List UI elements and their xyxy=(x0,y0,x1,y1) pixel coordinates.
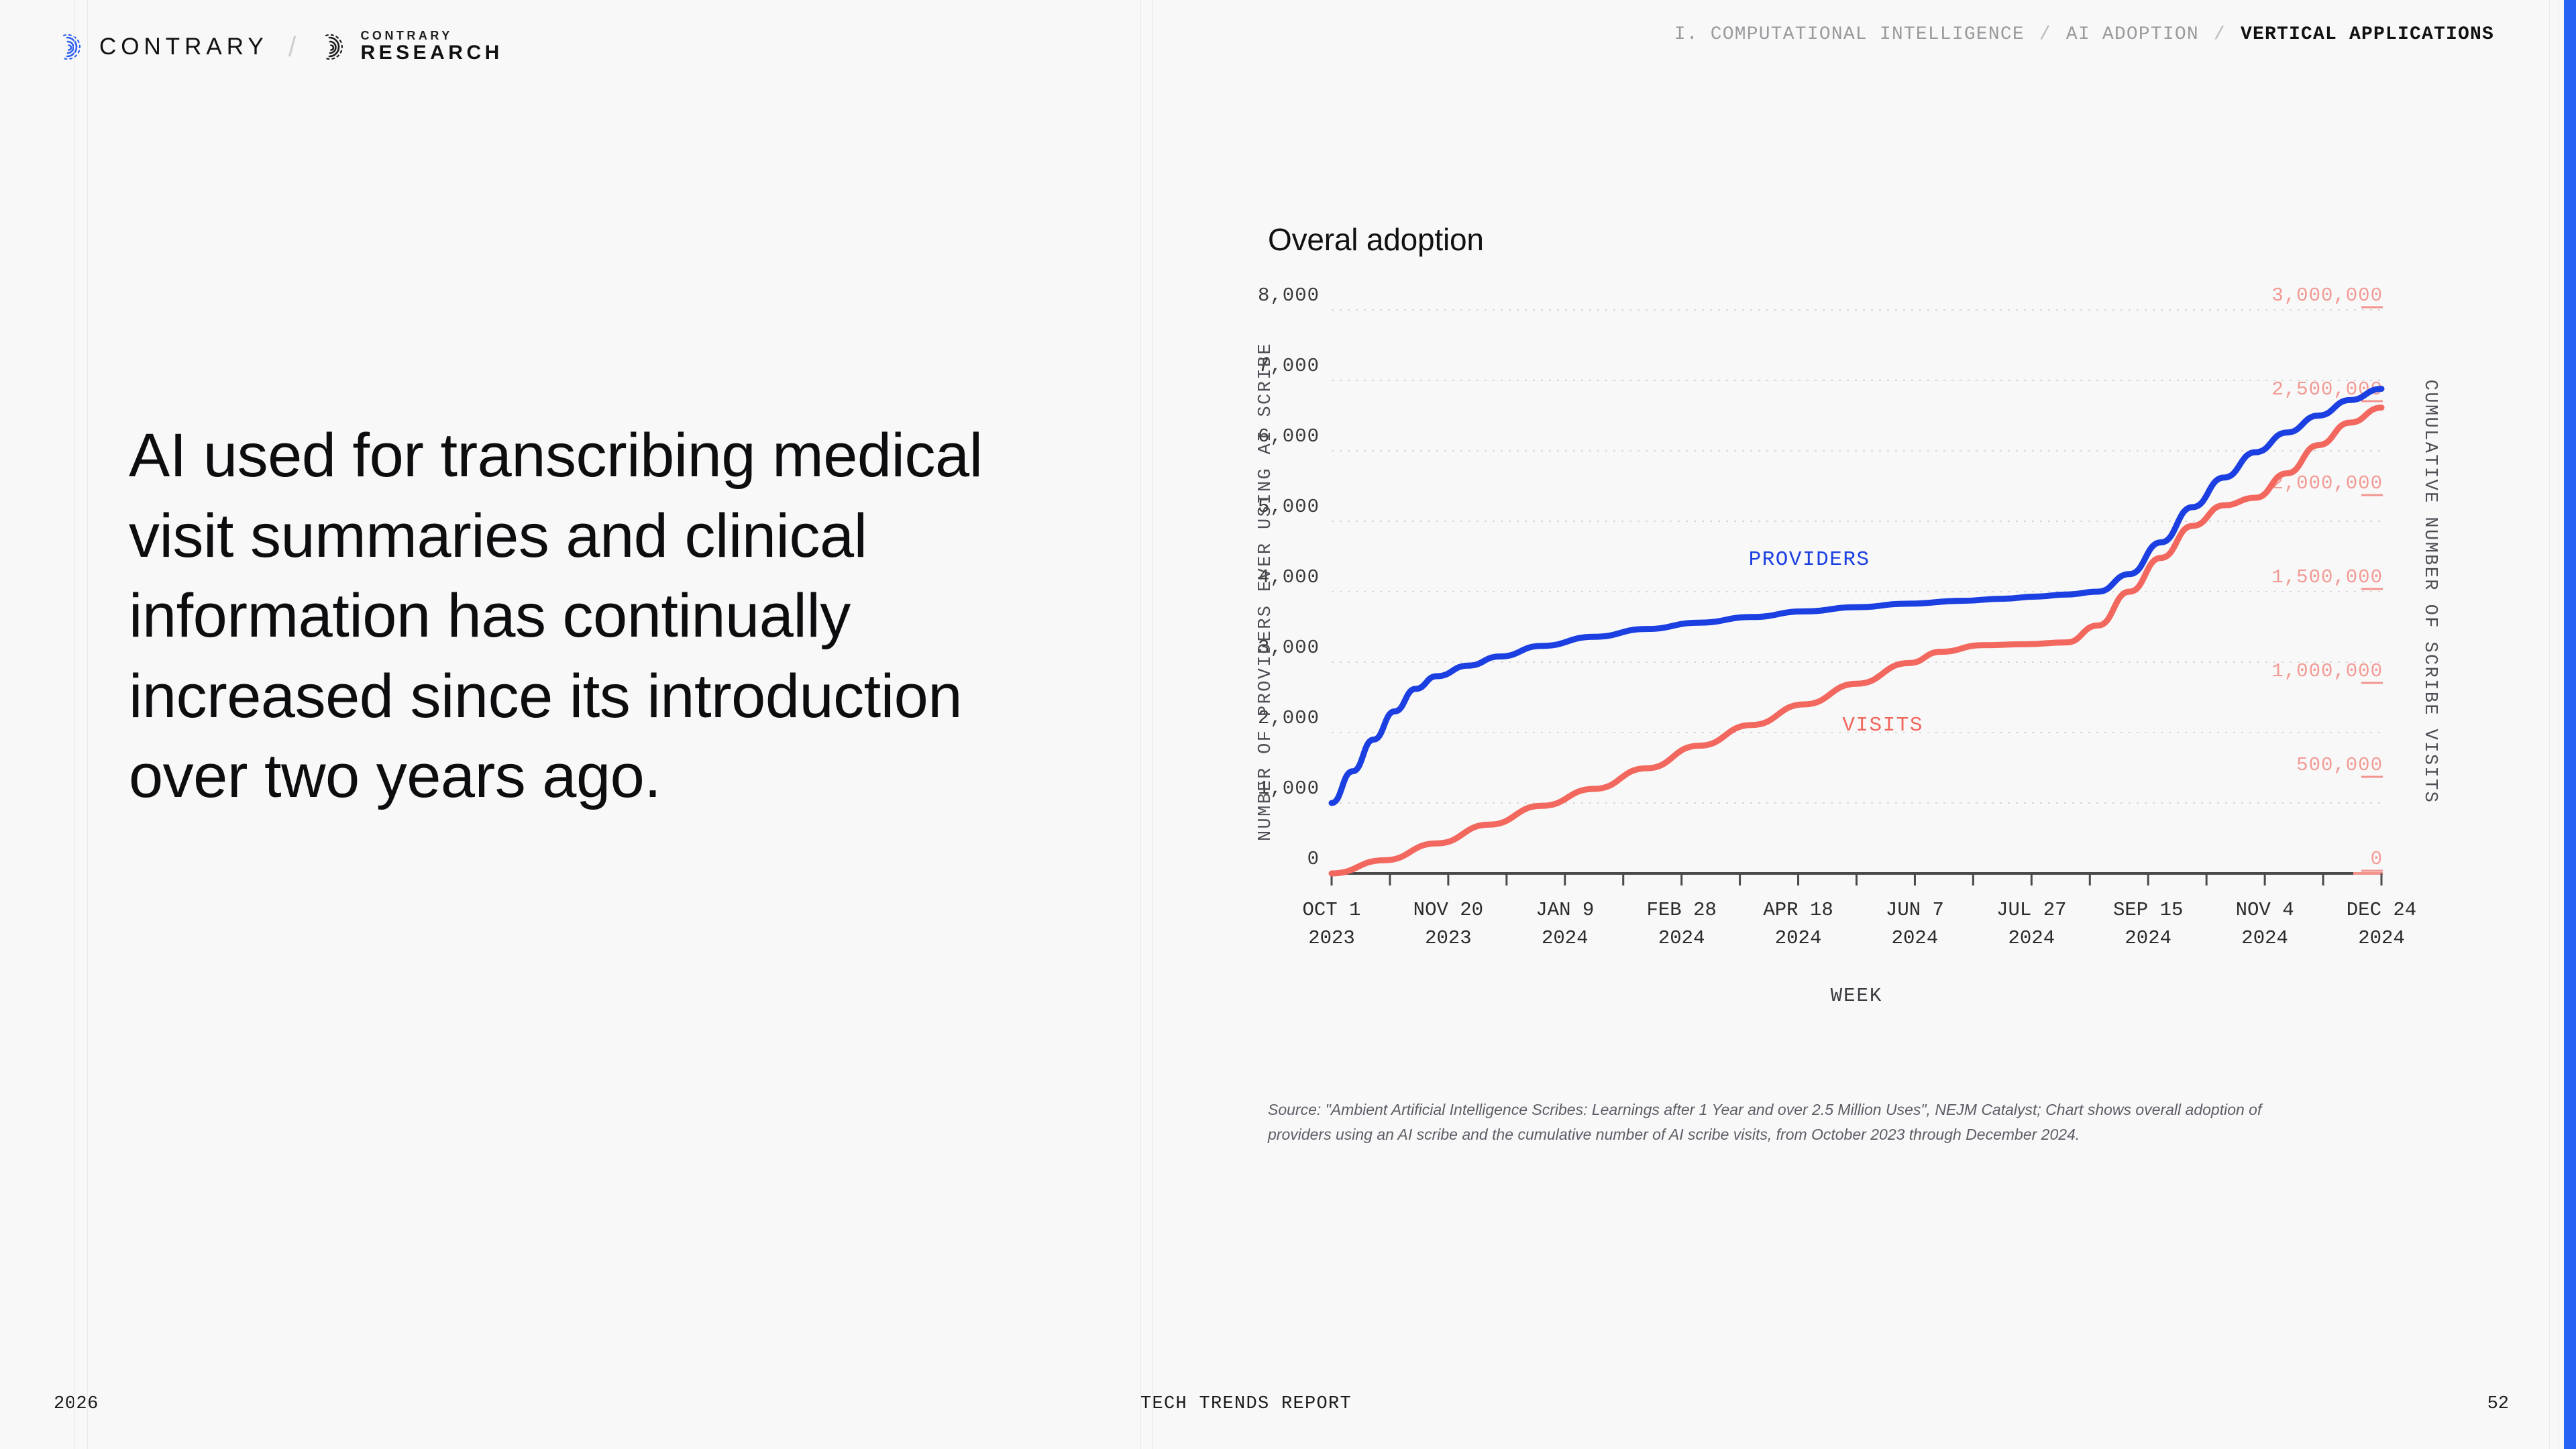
contrary-research-logo[interactable]: CONTRARY RESEARCH xyxy=(316,30,502,64)
y2-axis-tick-label: 3,000,000 xyxy=(2271,284,2383,307)
x-axis-tick-label: NOV 4 xyxy=(2236,899,2294,921)
page-headline: AI used for transcribing medical visit s… xyxy=(129,416,994,817)
x-axis-tick-label: JUN 7 xyxy=(1886,899,1944,921)
footer-year: 2026 xyxy=(54,1394,99,1414)
series-label-visits: VISITS xyxy=(1842,714,1923,737)
page-edge-line xyxy=(2559,0,2559,1449)
y2-axis-tick-label: 500,000 xyxy=(2296,754,2383,776)
chart-title: Overal adoption xyxy=(1268,221,2529,258)
x-axis-tick-label-year: 2024 xyxy=(2241,927,2288,949)
y2-axis-tick-label: 0 xyxy=(2371,848,2383,870)
page-edge-line xyxy=(87,0,88,1449)
page-edge-line xyxy=(2549,0,2550,1449)
x-axis-tick-label: NOV 20 xyxy=(1413,899,1483,921)
breadcrumb-item-current[interactable]: VERTICAL APPLICATIONS xyxy=(2241,24,2494,45)
x-axis-tick-label-year: 2024 xyxy=(1775,927,1822,949)
contrary-research-spiral-icon xyxy=(316,31,348,63)
book-gutter-line xyxy=(1140,0,1141,1449)
x-axis-tick-label-year: 2024 xyxy=(1658,927,1705,949)
chart-source-note: Source: "Ambient Artificial Intelligence… xyxy=(1268,1097,2314,1148)
research-eyebrow: CONTRARY xyxy=(360,30,502,42)
y-axis-tick-label: 8,000 xyxy=(1258,284,1320,307)
series-label-providers: PROVIDERS xyxy=(1749,548,1870,572)
chart-figure: 01,0002,0003,0004,0005,0006,0007,0008,00… xyxy=(1201,270,2529,1075)
x-axis-tick-label-year: 2024 xyxy=(1892,927,1939,949)
breadcrumb: I. COMPUTATIONAL INTELLIGENCE / AI ADOPT… xyxy=(1674,24,2494,45)
brand-lockup[interactable]: CONTRARY / CONTRARY RESEARCH xyxy=(54,30,503,64)
footer-page-number: 52 xyxy=(2487,1394,2509,1414)
vertical-scrollbar[interactable] xyxy=(2564,0,2576,1449)
y2-axis-title: CUMULATIVE NUMBER OF SCRIBE VISITS xyxy=(2420,380,2440,804)
footer-report-title: TECH TRENDS REPORT xyxy=(1140,1394,1352,1414)
breadcrumb-separator: / xyxy=(2199,24,2241,45)
chart-block: Overal adoption 01,0002,0003,0004,0005,0… xyxy=(1201,221,2529,1148)
adoption-line-chart: 01,0002,0003,0004,0005,0006,0007,0008,00… xyxy=(1201,270,2529,1075)
left-page: CONTRARY / CONTRARY RESEARCH xyxy=(0,0,1140,1449)
x-axis-tick-label: FEB 28 xyxy=(1646,899,1716,921)
x-axis-tick-label: JUL 27 xyxy=(1996,899,2066,921)
x-axis-tick-label: OCT 1 xyxy=(1302,899,1360,921)
x-axis-tick-label: APR 18 xyxy=(1763,899,1833,921)
x-axis-tick-label-year: 2024 xyxy=(2125,927,2171,949)
y-axis-title: NUMBER OF PROVIDERS EVER USING AI SCRIBE xyxy=(1256,342,1276,841)
page-edge-line xyxy=(74,0,74,1449)
y2-axis-tick-label: 1,000,000 xyxy=(2271,660,2383,682)
x-axis-tick-label-year: 2023 xyxy=(1308,927,1355,949)
x-axis-title: WEEK xyxy=(1831,985,1883,1007)
breadcrumb-item-topic[interactable]: AI ADOPTION xyxy=(2066,24,2199,45)
x-axis-tick-label: DEC 24 xyxy=(2347,899,2416,921)
x-axis-tick-label-year: 2023 xyxy=(1425,927,1472,949)
breadcrumb-item-section[interactable]: I. COMPUTATIONAL INTELLIGENCE xyxy=(1674,24,2025,45)
contrary-logo[interactable]: CONTRARY xyxy=(54,31,268,63)
x-axis-tick-label: SEP 15 xyxy=(2113,899,2183,921)
y2-axis-tick-label: 1,500,000 xyxy=(2271,566,2383,588)
x-axis-tick-label-year: 2024 xyxy=(1542,927,1589,949)
contrary-wordmark: CONTRARY xyxy=(99,34,268,60)
contrary-spiral-icon xyxy=(54,31,86,63)
breadcrumb-separator: / xyxy=(2025,24,2066,45)
book-gutter-line xyxy=(1152,0,1153,1449)
y-axis-tick-label: 0 xyxy=(1307,848,1320,870)
x-axis-tick-label-year: 2024 xyxy=(2358,927,2405,949)
x-axis-tick-label: JAN 9 xyxy=(1536,899,1594,921)
research-wordmark: RESEARCH xyxy=(360,42,502,64)
report-page: CONTRARY / CONTRARY RESEARCH xyxy=(0,0,2576,1449)
x-axis-tick-label-year: 2024 xyxy=(2008,927,2055,949)
right-page: I. COMPUTATIONAL INTELLIGENCE / AI ADOPT… xyxy=(1140,0,2576,1449)
brand-separator: / xyxy=(288,31,297,63)
